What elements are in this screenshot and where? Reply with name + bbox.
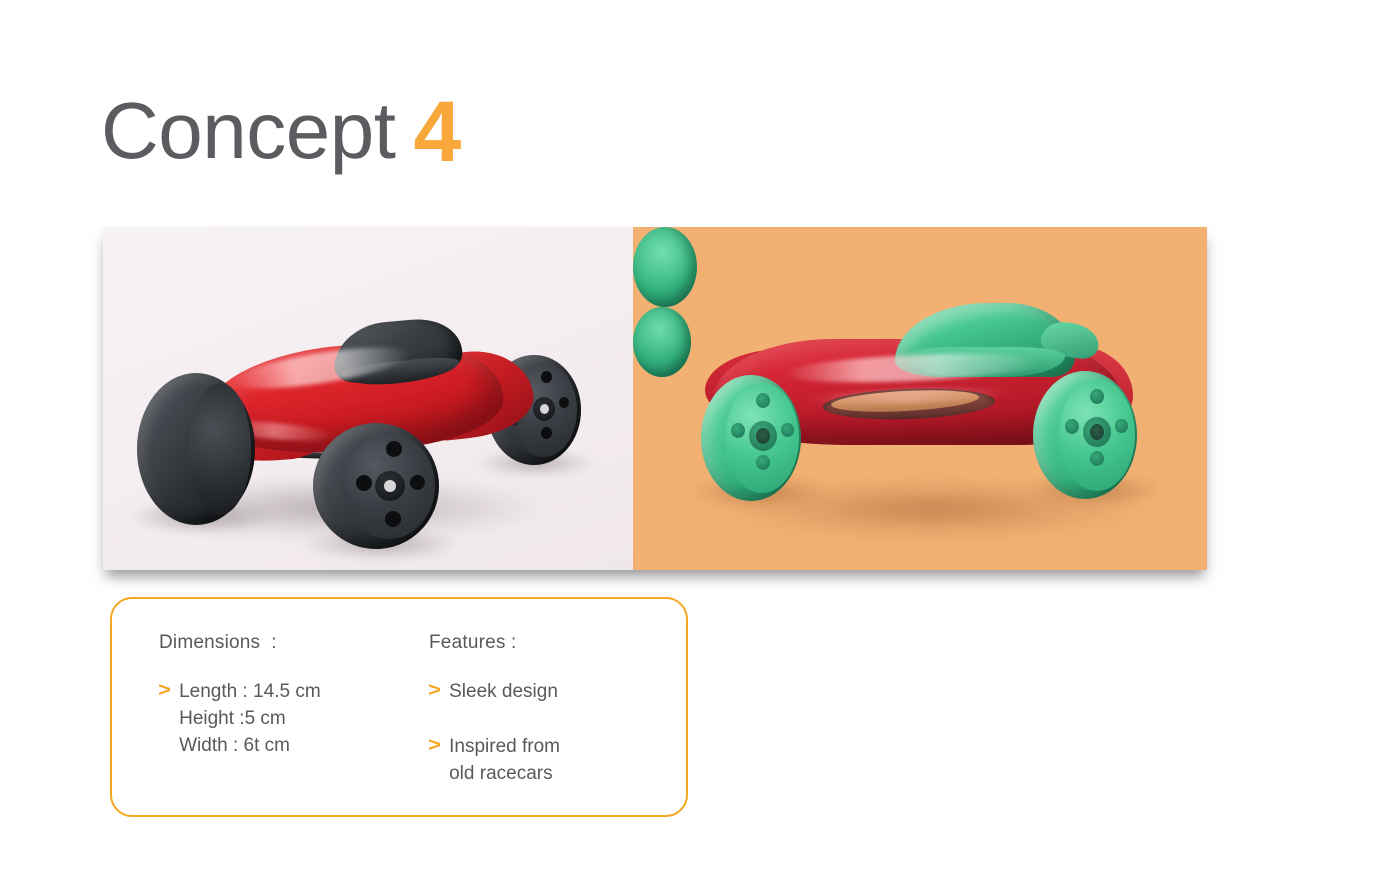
wheel-lug	[1115, 419, 1128, 433]
wheel-lug	[1090, 389, 1104, 404]
wheel-lug	[756, 455, 770, 470]
wheel-lug	[410, 475, 425, 490]
features-item-text: Sleek design	[449, 678, 558, 705]
chevron-bullet-icon: >	[428, 678, 441, 704]
chevron-bullet-icon: >	[158, 678, 171, 704]
list-spacer	[429, 711, 669, 733]
product-image-gallery	[103, 227, 1207, 570]
chevron-bullet-icon: >	[428, 733, 441, 759]
wheel-lug	[756, 393, 770, 408]
features-list-item: > Sleek design	[429, 678, 669, 705]
wheel-lug	[781, 423, 794, 437]
wheel-lug	[1090, 451, 1104, 466]
wheel-lug	[356, 475, 372, 491]
features-column: Features : > Sleek design > Inspired fro…	[429, 632, 669, 793]
wheel-lug	[541, 427, 552, 439]
wheel-hub-center	[1090, 424, 1104, 440]
dimensions-heading: Dimensions :	[159, 632, 429, 654]
features-heading: Features :	[429, 632, 669, 654]
car-wheel-front-left	[313, 423, 439, 549]
features-list-item: > Inspired from old racecars	[429, 733, 669, 787]
wheel-lug	[541, 371, 552, 383]
dimensions-list-item: > Length : 14.5 cm Height :5 cm Width : …	[159, 678, 429, 759]
dimensions-column: Dimensions : > Length : 14.5 cm Height :…	[159, 632, 429, 765]
wheel-hub-center	[756, 428, 770, 444]
page-title: Concept 4	[101, 86, 461, 172]
features-item-text: Inspired from old racecars	[449, 733, 560, 787]
car-wheel-rear-left	[137, 373, 255, 525]
dimensions-item-text: Length : 14.5 cm Height :5 cm Width : 6t…	[179, 678, 321, 759]
car-wheel-front-right	[1033, 371, 1137, 499]
wheel-lug	[559, 397, 569, 408]
product-photo-red-green	[633, 227, 1207, 570]
wheel-lug	[386, 441, 402, 457]
wheel-lug	[731, 423, 745, 438]
product-photo-red-black	[103, 227, 633, 570]
car-wheel-rear-right	[633, 307, 691, 377]
wheel-hub-center	[384, 480, 396, 492]
wheel-face	[189, 383, 251, 515]
title-number: 4	[413, 89, 461, 175]
slide-canvas: Concept 4	[0, 0, 1400, 876]
car-wheel-rear-left	[633, 227, 697, 307]
wheel-lug	[385, 511, 401, 527]
title-text: Concept	[101, 91, 395, 171]
wheel-hub-center	[540, 404, 549, 414]
wheel-lug	[1065, 419, 1079, 434]
car-wheel-front-left	[701, 375, 801, 501]
specs-info-box: Dimensions : > Length : 14.5 cm Height :…	[110, 597, 688, 817]
